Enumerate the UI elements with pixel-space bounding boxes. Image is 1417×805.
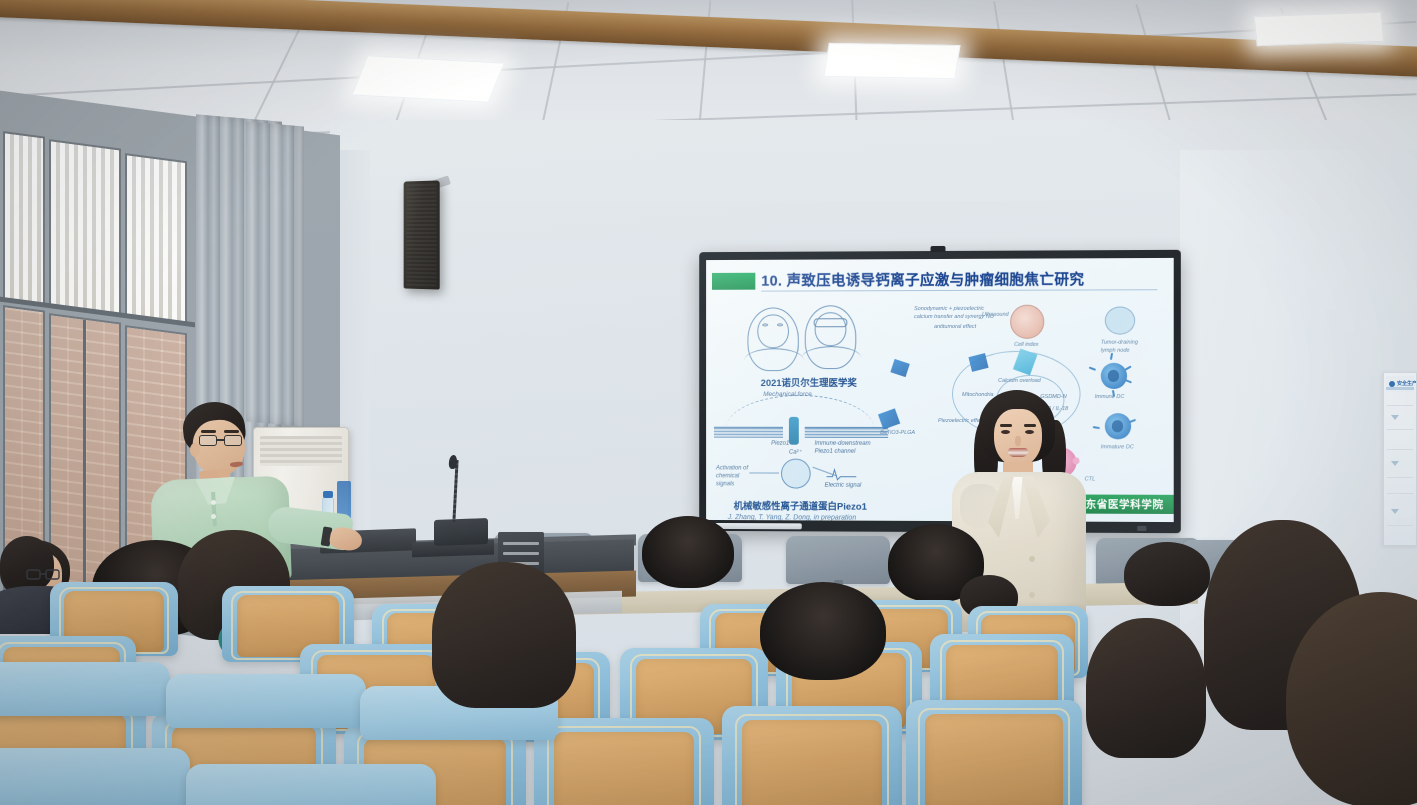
slide-title-underline bbox=[761, 289, 1157, 291]
audience-head bbox=[1124, 542, 1210, 606]
portrait-glasses-icon bbox=[814, 318, 848, 327]
cell-index-label: Cell index bbox=[1014, 341, 1038, 349]
auditorium-seat[interactable] bbox=[906, 700, 1082, 805]
display-control-strip[interactable] bbox=[715, 523, 802, 529]
poster-subtitle-bar bbox=[1386, 387, 1414, 390]
poster-marker-icon bbox=[1391, 461, 1399, 466]
display-camera bbox=[931, 246, 946, 252]
back-row-chair[interactable] bbox=[786, 536, 890, 584]
presenter-nose bbox=[1015, 436, 1021, 446]
slide-content: 10. 声致压电诱导钙离子应激与肿瘤细胞焦亡研究 bbox=[706, 258, 1174, 522]
window-curtain bbox=[246, 121, 304, 426]
calcium-overload-label: Calcium overload bbox=[998, 377, 1041, 385]
slide-title: 10. 声致压电诱导钙离子应激与肿瘤细胞焦亡研究 bbox=[761, 268, 1084, 290]
auditorium-seat-cushion[interactable] bbox=[186, 764, 436, 805]
institution-name: 山东省医学科学院 bbox=[1075, 496, 1164, 511]
immature-dc-icon bbox=[1105, 413, 1131, 439]
immune-dc-label: Immune DC bbox=[1095, 393, 1125, 401]
audience-head bbox=[642, 516, 734, 588]
wall-poster: 安全生产 bbox=[1383, 372, 1417, 546]
portrait-sketch bbox=[747, 307, 798, 371]
microphone-base[interactable] bbox=[434, 518, 488, 546]
audience-glasses-icon bbox=[26, 568, 62, 580]
window-blind bbox=[51, 141, 119, 314]
electric-signal-label: Electric signal bbox=[825, 483, 862, 489]
auditorium-seat[interactable] bbox=[534, 718, 714, 805]
electric-signal-icon bbox=[827, 467, 857, 481]
tumor-cell-top bbox=[1010, 305, 1044, 339]
window-blind bbox=[5, 133, 43, 304]
slide-body: 2021诺贝尔生理医学奖 Mechanical force Piezo1 Imm… bbox=[706, 298, 1174, 522]
window-pane bbox=[49, 139, 121, 316]
immature-dc-label: Immature DC bbox=[1101, 443, 1134, 451]
piezoelectric-effect-label: Piezoelectric effect bbox=[938, 417, 984, 425]
audience-head-foreground bbox=[432, 562, 576, 708]
mechanical-force-arc bbox=[726, 395, 874, 429]
audience-head-foreground bbox=[1086, 618, 1206, 758]
poster-marker-icon bbox=[1391, 415, 1399, 420]
nobel-laureate-portraits bbox=[742, 305, 871, 371]
nobel-prize-caption: 2021诺贝尔生理医学奖 bbox=[744, 375, 875, 389]
ac-vent bbox=[260, 436, 342, 466]
moderator-glasses-icon bbox=[199, 435, 243, 446]
audience-head bbox=[0, 536, 54, 592]
portrait-shoulders bbox=[802, 346, 862, 370]
lecture-hall-photo: 10. 声致压电诱导钙离子应激与肿瘤细胞焦亡研究 bbox=[0, 0, 1417, 805]
presentation-display[interactable]: 10. 声致压电诱导钙离子应激与肿瘤细胞焦亡研究 bbox=[699, 250, 1181, 533]
piezo1-protein-caption: 机械敏感性离子通道蛋白Piezo1 bbox=[734, 498, 867, 512]
display-power-indicator bbox=[1137, 526, 1146, 531]
lymph-node-icon bbox=[1105, 306, 1135, 334]
auditorium-seat-cushion[interactable] bbox=[166, 674, 366, 728]
window-blind bbox=[127, 155, 185, 323]
pathway-effect-label: antitumoral effect bbox=[934, 323, 976, 331]
piezo1-label: Piezo1 bbox=[771, 441, 789, 447]
immune-channel-label: Immune-downstream Piezo1 channel bbox=[815, 440, 886, 456]
ceiling-panel-light bbox=[1254, 12, 1385, 46]
wall-speaker bbox=[404, 180, 440, 289]
window-pane bbox=[125, 153, 187, 325]
slide-accent-tab bbox=[712, 273, 755, 290]
dendritic-cell-icon bbox=[1101, 363, 1127, 389]
signal-node-icon bbox=[781, 459, 811, 489]
auditorium-seat-cushion[interactable] bbox=[0, 748, 190, 805]
audience-head-foreground bbox=[760, 582, 886, 680]
poster-marker-icon bbox=[1391, 509, 1399, 514]
cell-nucleus bbox=[1112, 420, 1124, 432]
mitochondria-label: Mitochondria bbox=[962, 391, 994, 399]
nanoparticle-icon bbox=[890, 359, 909, 377]
window-pane bbox=[3, 131, 45, 307]
portrait-shoulders bbox=[744, 348, 803, 372]
auditorium-seat[interactable] bbox=[722, 706, 902, 805]
portrait-sketch bbox=[805, 305, 857, 369]
mechanical-force-label: Mechanical force bbox=[763, 391, 812, 398]
speaker-grille bbox=[407, 184, 437, 287]
ultrasound-label: Ultrasound bbox=[982, 311, 1009, 319]
batio3-label: BaTiO3-PLGA bbox=[880, 429, 915, 437]
portrait-face bbox=[757, 314, 789, 348]
ceiling-panel-light bbox=[351, 55, 504, 102]
piezo1-channel-icon bbox=[789, 417, 799, 445]
auditorium-seat-cushion[interactable] bbox=[0, 662, 170, 716]
lymph-node-label: Tumor-draining lymph node bbox=[1101, 339, 1146, 356]
calcium-ion-label: Ca²⁺ bbox=[789, 449, 802, 456]
ctl-label: CTL bbox=[1085, 475, 1095, 483]
water-bottle-cap bbox=[323, 491, 333, 498]
cell-nucleus bbox=[1108, 370, 1120, 382]
presenter-smile bbox=[1008, 448, 1028, 457]
ceiling-panel-light bbox=[823, 43, 960, 79]
chemical-activation-label: Activation of chemical signals bbox=[716, 464, 753, 488]
slide-title-bar: 10. 声致压电诱导钙离子应激与肿瘤细胞焦亡研究 bbox=[706, 268, 1174, 296]
poster-title: 安全生产 bbox=[1397, 380, 1417, 387]
slide-reference: J. Zhang, T. Yang, Z. Dong, in preparati… bbox=[728, 514, 856, 522]
nanoparticle-icon bbox=[878, 408, 900, 429]
